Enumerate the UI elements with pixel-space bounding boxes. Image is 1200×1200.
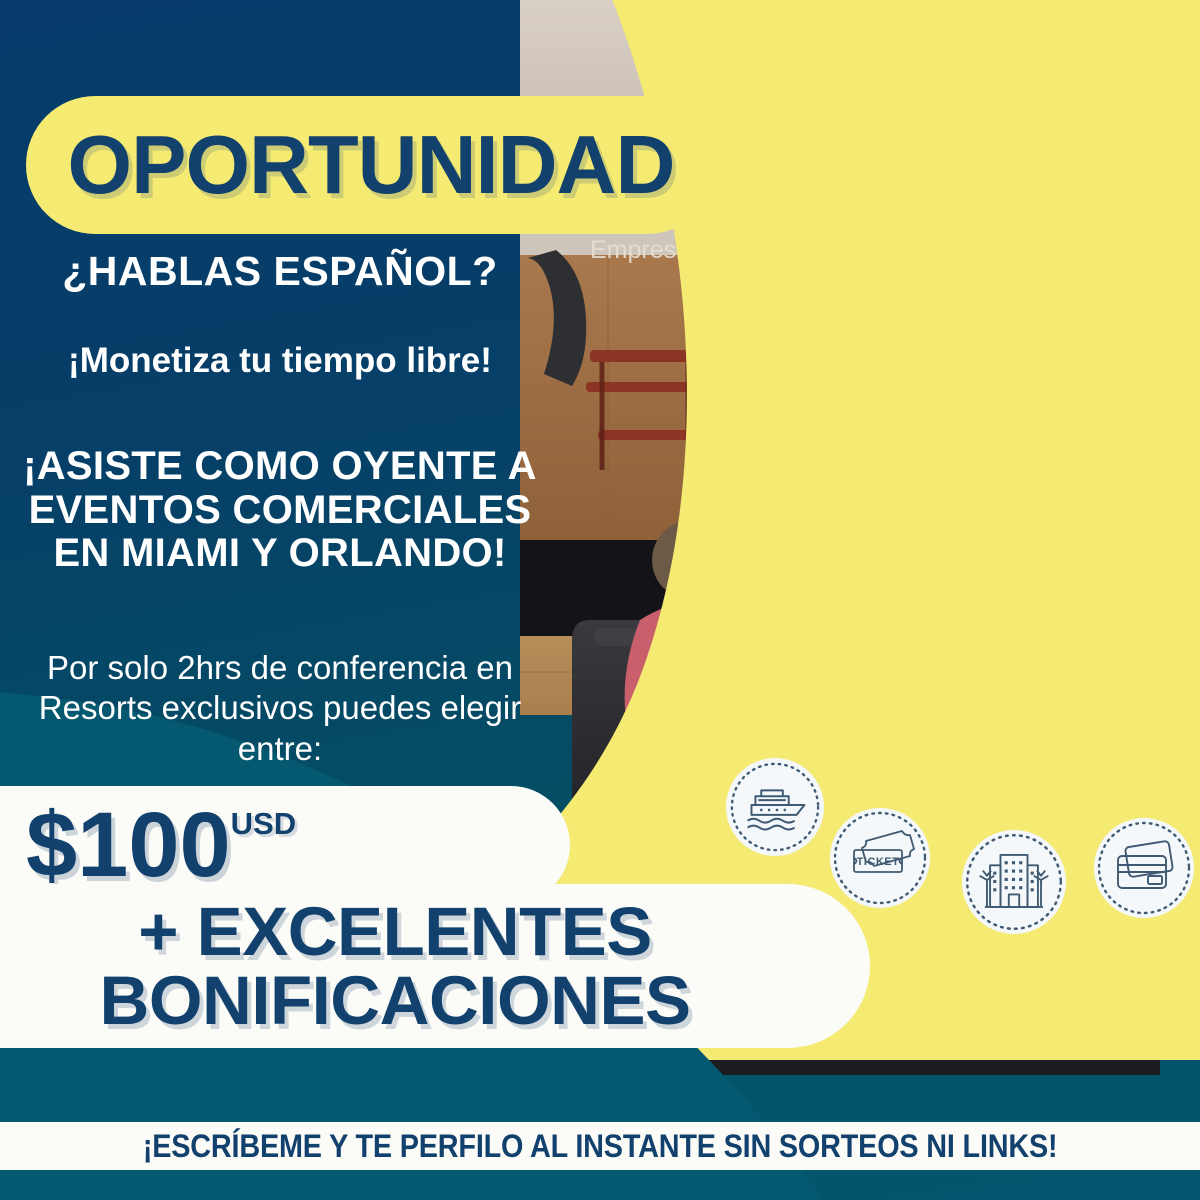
price-row: $100 USD — [26, 800, 296, 890]
left-copy-column: ¿HABLAS ESPAÑOL? ¡Monetiza tu tiempo lib… — [0, 248, 560, 770]
cruise-ship-icon — [726, 758, 824, 856]
svg-text:sobre las relaciones: sobre las relaciones — [850, 254, 1037, 277]
svg-text:TICKET: TICKET — [857, 856, 900, 868]
ticket-icon: TICKET — [830, 808, 930, 908]
price-amount: $100 — [26, 800, 231, 890]
price-currency: USD — [231, 806, 296, 842]
bonus-panel: + EXCELENTES BONIFICACIONES — [0, 884, 870, 1048]
bonus-line-1: + EXCELENTES — [138, 897, 652, 966]
question-line: ¿HABLAS ESPAÑOL? — [0, 248, 560, 295]
bonus-line-2: BONIFICACIONES — [99, 966, 690, 1035]
resort-hotel-icon — [962, 830, 1066, 934]
body-paragraph: Por solo 2hrs de conferencia en Resorts … — [0, 648, 560, 770]
page-title: OPORTUNIDAD — [68, 117, 675, 213]
svg-text:El impacto del Brexit: El impacto del Brexit — [850, 220, 1042, 243]
title-pill: OPORTUNIDAD — [26, 96, 716, 234]
credit-cards-icon — [1094, 818, 1194, 918]
subhead-line: ¡Monetiza tu tiempo libre! — [0, 341, 560, 381]
banner-text: ¡ESCRÍBEME Y TE PERFILO AL INSTANTE SIN … — [143, 1128, 1058, 1165]
svg-text:Empresa y Turismo: Empresa y Turismo — [590, 236, 805, 264]
headline-block: ¡ASISTE COMO OYENTE A EVENTOS COMERCIALE… — [0, 445, 560, 576]
promotional-poster: Economía, Empresa y Turismo UNIVERSIDAD … — [0, 0, 1200, 1200]
bottom-banner: ¡ESCRÍBEME Y TE PERFILO AL INSTANTE SIN … — [0, 1122, 1200, 1170]
